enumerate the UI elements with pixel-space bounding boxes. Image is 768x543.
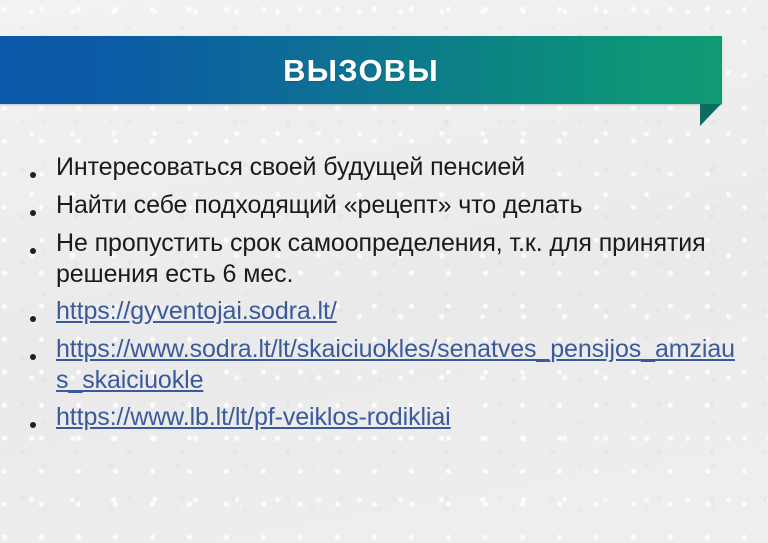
bullet-dot-icon bbox=[30, 190, 56, 221]
bullet-text: Найти себе подходящий «рецепт» что делат… bbox=[56, 190, 740, 221]
bullet-dot-icon bbox=[30, 296, 56, 327]
bullet-dot-icon bbox=[30, 334, 56, 365]
bullet-text: Интересоваться своей будущей пенсией bbox=[56, 152, 740, 183]
link-sodra-skaiciuokle[interactable]: https://www.sodra.lt/lt/skaiciuokles/sen… bbox=[56, 334, 740, 395]
bullet-dot-icon bbox=[30, 152, 56, 183]
bullet-text: Не пропустить срок самоопределения, т.к.… bbox=[56, 228, 740, 289]
bullet-dot-icon bbox=[30, 402, 56, 433]
link-sodra-gyventojai[interactable]: https://gyventojai.sodra.lt/ bbox=[56, 296, 740, 327]
link-lb-rodikliai[interactable]: https://www.lb.lt/lt/pf-veiklos-rodiklia… bbox=[56, 402, 740, 433]
page-title: ВЫЗОВЫ bbox=[0, 36, 722, 104]
bullet-dot-icon bbox=[30, 228, 56, 259]
list-item: Интересоваться своей будущей пенсией bbox=[30, 152, 740, 183]
title-banner: ВЫЗОВЫ bbox=[0, 36, 768, 118]
list-item: https://gyventojai.sodra.lt/ bbox=[30, 296, 740, 327]
list-item: https://www.lb.lt/lt/pf-veiklos-rodiklia… bbox=[30, 402, 740, 433]
list-item: Не пропустить срок самоопределения, т.к.… bbox=[30, 228, 740, 289]
list-item: https://www.sodra.lt/lt/skaiciuokles/sen… bbox=[30, 334, 740, 395]
list-item: Найти себе подходящий «рецепт» что делат… bbox=[30, 190, 740, 221]
banner-fold-icon bbox=[700, 104, 721, 126]
bullet-list: Интересоваться своей будущей пенсией Най… bbox=[30, 152, 740, 440]
slide-canvas: ВЫЗОВЫ Интересоваться своей будущей пенс… bbox=[0, 0, 768, 543]
